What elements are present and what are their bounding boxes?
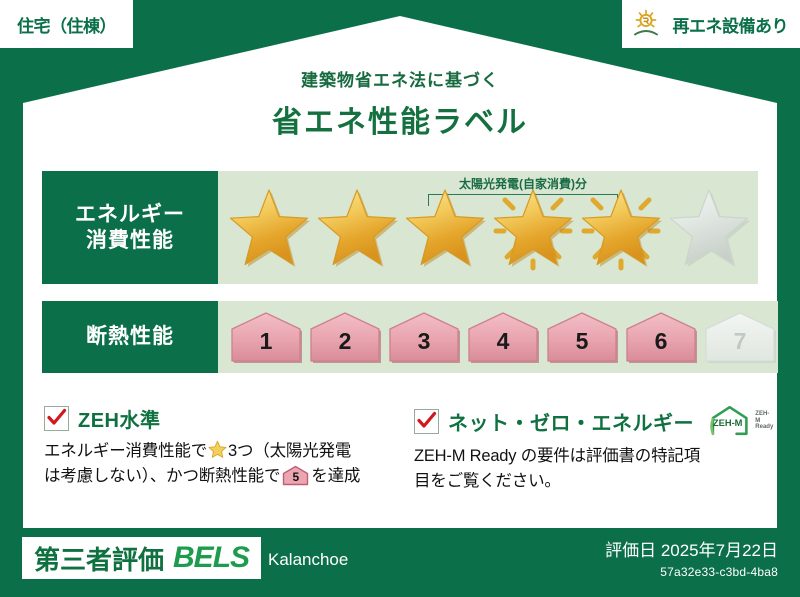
insulation-level-number: 3 xyxy=(386,309,462,365)
zeh-standard-checkbox[interactable] xyxy=(44,406,69,431)
star-filled xyxy=(314,185,400,271)
insulation-house-filled: 4 xyxy=(465,309,541,365)
evaluation-date: 評価日 2025年7月22日 xyxy=(605,536,778,561)
insulation-performance-row: 断熱性能 1234567 xyxy=(42,301,758,373)
zeh-m-ready-caption: ZEH-M Ready xyxy=(755,411,774,432)
building-type-tag: 住宅（住棟） xyxy=(0,0,133,48)
insulation-level-number: 2 xyxy=(307,309,383,365)
energy-key-line2: 消費性能 xyxy=(86,228,174,254)
zeh-m-logo: ZEH-M ZEH-M Ready xyxy=(707,404,774,438)
star-filled-solar xyxy=(578,185,664,271)
energy-performance-row: エネルギー 消費性能 太陽光発電(自家消費)分 xyxy=(42,171,758,284)
insulation-house-filled: 5 xyxy=(544,309,620,365)
bels-logo-box: 第三者評価 BELS xyxy=(22,537,261,579)
net-zero-energy-title: ネット・ゼロ・エネルギー xyxy=(448,407,694,436)
bels-jp-label: 第三者評価 xyxy=(34,540,164,577)
insulation-level-number: 5 xyxy=(544,309,620,365)
insulation-house-filled: 3 xyxy=(386,309,462,365)
zeh-desc-star-count: 3つ（太陽光発電 xyxy=(228,442,351,460)
insulation-level-number: 4 xyxy=(465,309,541,365)
star-filled xyxy=(226,185,312,271)
net-zero-desc-line1: ZEH-M Ready の要件は評価書の特記項 xyxy=(414,447,700,465)
insulation-key-label: 断熱性能 xyxy=(86,324,174,350)
check-icon xyxy=(46,407,67,428)
insulation-house-empty: 7 xyxy=(702,309,778,365)
title-subtitle: 建築物省エネ法に基づく xyxy=(0,66,800,91)
insulation-level-number: 1 xyxy=(228,309,304,365)
renewable-badge-label: 再エネ設備あり xyxy=(673,12,789,37)
star-empty xyxy=(666,185,752,271)
evaluation-info: 評価日 2025年7月22日 57a32e33-c3bd-4ba8 xyxy=(605,536,778,579)
inline-star-icon xyxy=(208,440,227,459)
insulation-house-filled: 6 xyxy=(623,309,699,365)
title-block: 建築物省エネ法に基づく 省エネ性能ラベル xyxy=(0,66,800,141)
zeh-standard-description: エネルギー消費性能で 3つ（太陽光発電 は考慮しない）、かつ断熱性能で 5を達成 xyxy=(44,439,390,489)
zeh-desc-part1: エネルギー消費性能で xyxy=(44,442,207,460)
star-filled-solar xyxy=(490,185,576,271)
insulation-house-filled: 1 xyxy=(228,309,304,365)
net-zero-energy-checkbox[interactable] xyxy=(414,409,439,434)
zeh-standard-block: ZEH水準 エネルギー消費性能で 3つ（太陽光発電 は考慮しない）、かつ断熱性能… xyxy=(44,404,390,494)
zeh-standard-header: ZEH水準 xyxy=(44,404,390,433)
inline-house-value: 5 xyxy=(282,465,309,486)
energy-performance-value: 太陽光発電(自家消費)分 xyxy=(218,171,758,284)
page-title: 省エネ性能ラベル xyxy=(0,97,800,141)
zeh-desc-part2: は考慮しない）、かつ断熱性能で xyxy=(44,467,280,485)
net-zero-energy-description: ZEH-M Ready の要件は評価書の特記項 目をご覧ください。 xyxy=(414,444,760,494)
net-zero-desc-line2: 目をご覧ください。 xyxy=(414,472,561,490)
energy-performance-key: エネルギー 消費性能 xyxy=(42,171,218,284)
zeh-m-house-icon: ZEH-M xyxy=(707,404,752,438)
insulation-level-scale: 1234567 xyxy=(218,309,778,365)
insulation-performance-value: 1234567 xyxy=(218,301,778,373)
zeh-desc-part3: を達成 xyxy=(311,467,360,485)
net-zero-energy-header: ネット・ゼロ・エネルギー ZEH-M ZEH-M Ready xyxy=(414,404,760,438)
building-name: Kalanchoe xyxy=(268,550,348,570)
energy-star-rating xyxy=(218,185,758,271)
insulation-level-number: 7 xyxy=(702,309,778,365)
zeh-m-sub-line1: ZEH-M xyxy=(755,411,769,424)
insulation-performance-key: 断熱性能 xyxy=(42,301,218,373)
certification-checks: ZEH水準 エネルギー消費性能で 3つ（太陽光発電 は考慮しない）、かつ断熱性能… xyxy=(44,404,760,494)
solar-sun-icon xyxy=(632,7,666,41)
energy-key-line1: エネルギー xyxy=(75,202,185,228)
evaluation-id: 57a32e33-c3bd-4ba8 xyxy=(605,565,778,579)
check-icon xyxy=(416,410,437,431)
building-type-label: 住宅（住棟） xyxy=(17,12,116,37)
net-zero-energy-block: ネット・ゼロ・エネルギー ZEH-M ZEH-M Ready ZEH-M Rea… xyxy=(414,404,760,494)
star-filled xyxy=(402,185,488,271)
zeh-standard-title: ZEH水準 xyxy=(78,404,161,433)
bels-energy-label: 住宅（住棟） 再エネ設備あり 建築物省エネ法に基づく xyxy=(0,0,800,597)
insulation-house-filled: 2 xyxy=(307,309,383,365)
insulation-level-number: 6 xyxy=(623,309,699,365)
renewable-energy-badge: 再エネ設備あり xyxy=(622,0,800,48)
inline-house-icon: 5 xyxy=(282,465,309,486)
svg-text:ZEH-M: ZEH-M xyxy=(713,418,743,428)
bels-en-label: BELS xyxy=(173,541,249,575)
zeh-m-sub-line2: Ready xyxy=(755,424,773,430)
